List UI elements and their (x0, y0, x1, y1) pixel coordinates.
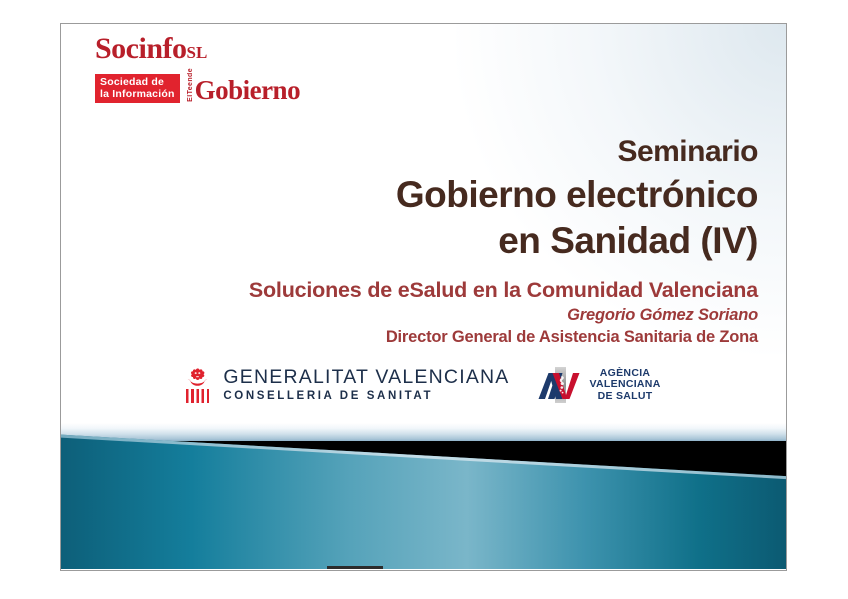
slide-title-block: Seminario Gobierno electrónico en Sanida… (396, 132, 758, 264)
socinfo-brand-wordmark: SocinfoSL (95, 34, 395, 64)
title-line-seminario: Seminario (396, 132, 758, 172)
badge-line-1: Sociedad de (100, 76, 175, 88)
slide-subtitle-block: Soluciones de eSalud en la Comunidad Val… (249, 277, 758, 348)
generalitat-line-2: CONSELLERIA DE SANITAT (223, 391, 509, 403)
institutional-logos-strip: GENERALITAT VALENCIANA CONSELLERIA DE SA… (61, 365, 786, 406)
socinfo-brand-suffix: SL (187, 43, 208, 62)
agencia-valenciana-salut-text: AGÈNCIA VALENCIANA DE SALUT (590, 368, 661, 403)
generalitat-line-1: GENERALITAT VALENCIANA (223, 368, 509, 388)
sociedad-informacion-badge: Sociedad de la Información (95, 74, 180, 103)
badge-line-2: la Información (100, 88, 175, 100)
gobierno-wordmark: Gobierno (195, 78, 301, 103)
presentation-slide: SocinfoSL Sociedad de la Información ElT… (60, 23, 787, 571)
crowned-bat-emblem-icon (187, 367, 208, 391)
agencia-line-3: DE SALUT (590, 391, 661, 403)
socinfo-brand-name: Socinfo (95, 32, 187, 65)
valencian-stripes-icon (186, 389, 209, 403)
generalitat-valenciana-text: GENERALITAT VALENCIANA CONSELLERIA DE SA… (223, 368, 509, 402)
subtitle-author: Gregorio Gómez Soriano (249, 304, 758, 326)
bottom-decorative-graphic (61, 405, 786, 570)
teal-wedge-shape (61, 405, 786, 570)
socinfo-logo: SocinfoSL Sociedad de la Información ElT… (95, 34, 395, 103)
subtitle-topic: Soluciones de eSalud en la Comunidad Val… (249, 277, 758, 304)
title-line-gobierno-electronico: Gobierno electrónico (396, 172, 758, 218)
socinfo-secondary-row: Sociedad de la Información ElTeende Gobi… (95, 68, 395, 103)
gobierno-wordmark-group: ElTeende Gobierno (187, 68, 301, 103)
subtitle-role: Director General de Asistencia Sanitaria… (249, 326, 758, 348)
avs-mark-icon (536, 367, 584, 403)
footer-edge (61, 569, 786, 570)
avs-monogram-icon (536, 367, 584, 403)
generalitat-crest-icon (186, 367, 209, 403)
agencia-valenciana-salut-logo: AGÈNCIA VALENCIANA DE SALUT (536, 367, 661, 403)
title-line-en-sanidad: en Sanidad (IV) (396, 218, 758, 264)
gobierno-vertical-tag: ElTeende (187, 68, 194, 102)
